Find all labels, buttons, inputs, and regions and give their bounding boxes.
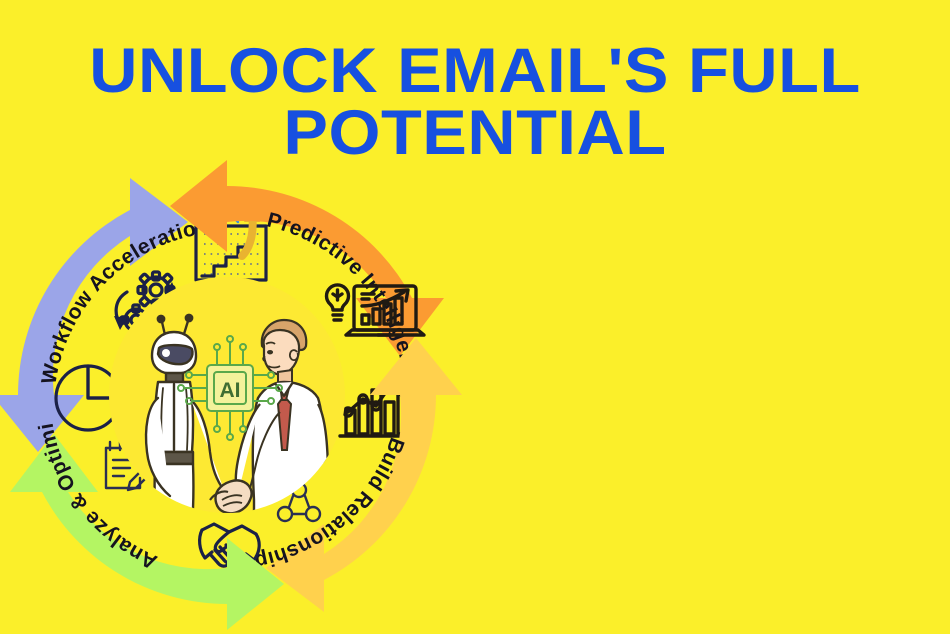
center-illustration: AI xyxy=(109,277,345,542)
poster-canvas: UNLOCK EMAIL'S FULL POTENTIAL Workflow A… xyxy=(0,0,950,634)
page-title: UNLOCK EMAIL'S FULL POTENTIAL xyxy=(0,40,950,164)
ai-chip-label: AI xyxy=(220,379,241,402)
title-line-1: UNLOCK EMAIL'S FULL xyxy=(0,40,950,102)
cyclical-process-diagram: Workflow Acceleration xyxy=(0,160,462,634)
title-line-2: POTENTIAL xyxy=(0,102,950,164)
